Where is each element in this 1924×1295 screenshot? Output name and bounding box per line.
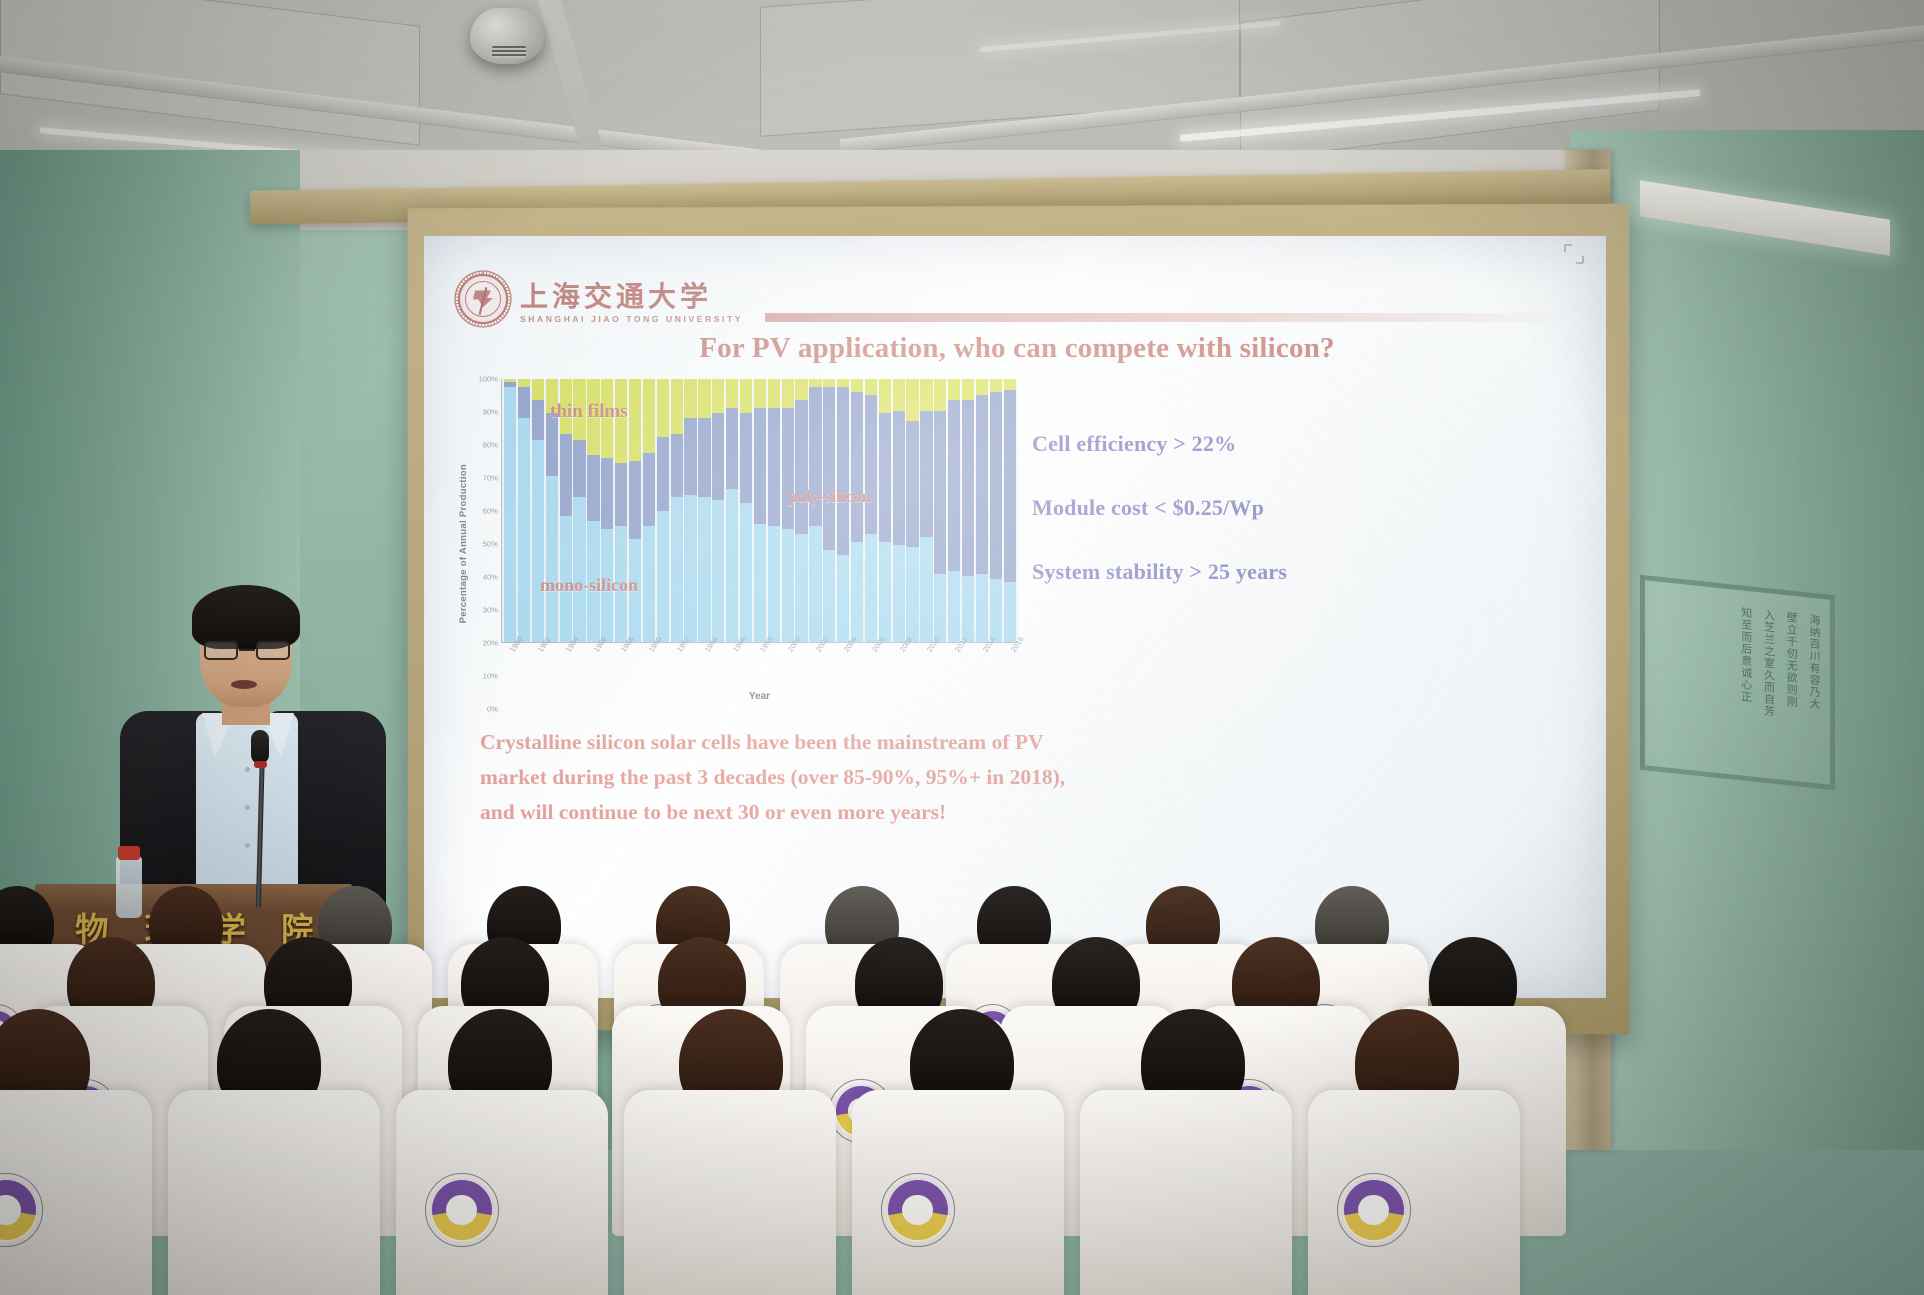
projection-screen: 上海交通大学 SHANGHAI JIAO TONG UNIVERSITY For… bbox=[424, 236, 1606, 998]
microphone-icon bbox=[251, 730, 269, 764]
chart-bar bbox=[754, 379, 766, 642]
chart-bar bbox=[1004, 379, 1016, 642]
chart-bar bbox=[684, 379, 696, 642]
chart-bar-segment bbox=[865, 534, 877, 642]
brand-accent-bar bbox=[765, 313, 1576, 322]
chart-bar-segment bbox=[684, 418, 696, 494]
chart-x-tick-slot bbox=[823, 645, 835, 693]
chair-logo-ring bbox=[425, 1173, 499, 1247]
water-bottle bbox=[116, 856, 142, 918]
chart-x-tick-slot bbox=[906, 645, 918, 693]
chart-bar-segment bbox=[906, 547, 918, 642]
chart-bar-segment bbox=[823, 550, 835, 642]
chart-bar bbox=[532, 379, 544, 642]
chart-x-tick-slot bbox=[851, 645, 863, 693]
chair-cover bbox=[624, 1090, 836, 1295]
fullscreen-corner-icon bbox=[1564, 244, 1584, 264]
chart-x-tick-slot: 1986 bbox=[586, 645, 598, 693]
chart-x-tick-slot: 2006 bbox=[865, 645, 877, 693]
university-brand: 上海交通大学 SHANGHAI JIAO TONG UNIVERSITY bbox=[520, 284, 743, 324]
chart-bar-segment bbox=[671, 497, 683, 642]
chart-bar-segment bbox=[587, 455, 599, 521]
slide-header: 上海交通大学 SHANGHAI JIAO TONG UNIVERSITY bbox=[458, 254, 1576, 324]
chart-bar-segment bbox=[976, 379, 988, 395]
chart-bar bbox=[712, 379, 724, 642]
chart-bar-segment bbox=[837, 387, 849, 555]
chart-bar-segment bbox=[893, 545, 905, 642]
chart-bar-segment bbox=[546, 476, 558, 642]
chart-x-tick-slot bbox=[962, 645, 974, 693]
chart-bar-segment bbox=[754, 524, 766, 642]
chart-bar-segment bbox=[712, 379, 724, 413]
chart-bar bbox=[671, 379, 683, 642]
chart-y-tick: 50% bbox=[483, 540, 498, 549]
chart-bar-segment bbox=[726, 408, 738, 490]
chart-x-tick-slot bbox=[684, 645, 696, 693]
slide-body: Percentage of Annual Production 100%90%8… bbox=[458, 379, 1576, 709]
chart-bar-segment bbox=[782, 529, 794, 642]
calligraphy-column: 知至而后意诚心正 bbox=[1738, 606, 1752, 760]
chair-logo-ring bbox=[881, 1173, 955, 1247]
chart-y-tick: 70% bbox=[483, 474, 498, 483]
chart-bar-segment bbox=[560, 434, 572, 516]
projector-vent-icon bbox=[492, 46, 526, 58]
chart-bar-segment bbox=[768, 526, 780, 642]
presentation-slide: 上海交通大学 SHANGHAI JIAO TONG UNIVERSITY For… bbox=[424, 236, 1606, 998]
chart-bar-segment bbox=[532, 440, 544, 643]
chart-bar-segment bbox=[657, 511, 669, 643]
chart-bar-segment bbox=[1004, 390, 1016, 582]
chart-bar-segment bbox=[726, 379, 738, 408]
bullet-module-cost: Module cost < $0.25/Wp bbox=[1032, 495, 1576, 521]
chart-x-axis-ticks: 1980198219841986198819901992199419961998… bbox=[501, 645, 1018, 693]
chart-x-tick-slot: 2002 bbox=[809, 645, 821, 693]
chart-bar-segment bbox=[795, 379, 807, 400]
chart-annotation-poly-silicon: poly-silicon bbox=[788, 487, 871, 507]
paragraph-line: market during the past 3 decades (over 8… bbox=[480, 760, 1554, 795]
chart-bar-segment bbox=[643, 379, 655, 453]
chart-bar bbox=[851, 379, 863, 642]
chart-x-axis-title: Year bbox=[501, 691, 1018, 702]
chart-bar-segment bbox=[657, 437, 669, 511]
chart-bar bbox=[948, 379, 960, 642]
chart-bar-segment bbox=[865, 395, 877, 534]
chart-bar-segment bbox=[657, 379, 669, 437]
chart-bar-segment bbox=[976, 574, 988, 642]
chart-bar-segment bbox=[712, 413, 724, 500]
chart-bar bbox=[809, 379, 821, 642]
bullet-cell-efficiency: Cell efficiency > 22% bbox=[1032, 431, 1576, 457]
chair-cover bbox=[1308, 1090, 1520, 1295]
chart-bar-segment bbox=[504, 387, 516, 642]
chair-cover bbox=[168, 1090, 380, 1295]
chart-bar-segment bbox=[906, 379, 918, 421]
chart-bar-segment bbox=[726, 489, 738, 642]
chart-bar-segment bbox=[782, 408, 794, 529]
chart-x-tick-slot bbox=[878, 645, 890, 693]
chart-bar bbox=[865, 379, 877, 642]
chart-bar bbox=[726, 379, 738, 642]
chart-bar bbox=[795, 379, 807, 642]
chart-bar-segment bbox=[1004, 379, 1016, 390]
chart-bar bbox=[879, 379, 891, 642]
chart-bar-segment bbox=[643, 453, 655, 527]
chart-bar-segment bbox=[698, 418, 710, 497]
chart-y-tick: 90% bbox=[483, 408, 498, 417]
chart-bar-segment bbox=[837, 555, 849, 642]
chart-bar-segment bbox=[990, 579, 1002, 642]
chart-x-tick-slot: 1988 bbox=[614, 645, 626, 693]
chart-bar-segment bbox=[532, 400, 544, 439]
chart-bar-segment bbox=[768, 408, 780, 526]
chart-bar-segment bbox=[962, 379, 974, 400]
chart-x-tick-slot bbox=[517, 645, 529, 693]
chart-bar bbox=[990, 379, 1002, 642]
chart-bar-segment bbox=[851, 379, 863, 392]
chart-x-tick-slot bbox=[739, 645, 751, 693]
slide-paragraph: Crystalline silicon solar cells have bee… bbox=[458, 725, 1576, 829]
chart-x-tick-slot: 2012 bbox=[948, 645, 960, 693]
chart-bar-segment bbox=[948, 379, 960, 400]
calligraphy-column: 海纳百川有容乃大 bbox=[1806, 613, 1820, 767]
chart-y-tick: 60% bbox=[483, 507, 498, 516]
chart-x-tick-slot: 1992 bbox=[670, 645, 682, 693]
chart-x-tick-slot: 1994 bbox=[698, 645, 710, 693]
chart-x-tick-slot: 2016 bbox=[1004, 645, 1016, 693]
chart-bar-segment bbox=[934, 379, 946, 411]
chart-annotation-thin-films: thin films bbox=[550, 401, 628, 423]
chart-x-tick-slot: 1982 bbox=[531, 645, 543, 693]
chart-x-tick-slot: 2014 bbox=[976, 645, 988, 693]
chart-bar-segment bbox=[879, 379, 891, 413]
chart-bar-segment bbox=[518, 379, 530, 387]
chair-logo-ring bbox=[1337, 1173, 1411, 1247]
chair-cover bbox=[396, 1090, 608, 1295]
chart-x-tick-slot bbox=[573, 645, 585, 693]
chart-bar-segment bbox=[920, 379, 932, 411]
chart-y-tick: 80% bbox=[483, 441, 498, 450]
chart-bar-segment bbox=[643, 526, 655, 642]
chart-bar-segment bbox=[948, 571, 960, 642]
chart-bar-segment bbox=[754, 408, 766, 524]
chart-y-axis-ticks: 100%90%80%70%60%50%40%30%20%10%0% bbox=[471, 379, 501, 709]
chart-bar-segment bbox=[934, 411, 946, 574]
chart-bar bbox=[657, 379, 669, 642]
chart-bar-segment bbox=[518, 418, 530, 642]
chart-bar bbox=[643, 379, 655, 642]
chart-annotation-mono-silicon: mono-silicon bbox=[540, 575, 638, 596]
speaker-hair bbox=[192, 585, 300, 649]
chart-bar-segment bbox=[934, 574, 946, 642]
lecture-hall-photo: 海纳百川有容乃大 壁立千仞无欲则刚 入芝兰之室久而自芳 知至而后意诚心正 上海交… bbox=[0, 0, 1924, 1295]
chart-bar-segment bbox=[809, 379, 821, 387]
chart-bar bbox=[698, 379, 710, 642]
chart-x-tick-slot: 2008 bbox=[892, 645, 904, 693]
chart-bar-segment bbox=[573, 440, 585, 498]
chart-y-tick: 100% bbox=[479, 375, 498, 384]
chart-bar-segment bbox=[893, 379, 905, 411]
chart-bar bbox=[629, 379, 641, 642]
brand-chinese-name: 上海交通大学 bbox=[520, 284, 743, 312]
audience-seating bbox=[0, 940, 1924, 1295]
chart-bar-segment bbox=[990, 379, 1002, 392]
chart-bar bbox=[962, 379, 974, 642]
chart-bar-segment bbox=[712, 500, 724, 642]
chart-bar-segment bbox=[879, 413, 891, 542]
chair-cover bbox=[852, 1090, 1064, 1295]
chart-x-tick-slot: 1998 bbox=[753, 645, 765, 693]
chart-bar-segment bbox=[601, 458, 613, 529]
chart-y-tick: 20% bbox=[483, 639, 498, 648]
chart-bar-segment bbox=[823, 387, 835, 550]
chart-bar bbox=[782, 379, 794, 642]
chart-bar-segment bbox=[573, 497, 585, 642]
chart-bar-segment bbox=[754, 379, 766, 408]
chart-bar-segment bbox=[962, 400, 974, 576]
chart-bar-segment bbox=[962, 576, 974, 642]
chart-bar-segment bbox=[823, 379, 835, 387]
calligraphy-column: 入芝兰之室久而自芳 bbox=[1761, 608, 1775, 762]
chart-y-tick: 30% bbox=[483, 606, 498, 615]
chart-x-tick-slot bbox=[934, 645, 946, 693]
chart-bar-segment bbox=[920, 411, 932, 537]
chart-bar-segment bbox=[865, 379, 877, 395]
chart-x-tick-slot: 2000 bbox=[781, 645, 793, 693]
chart-bar bbox=[504, 379, 516, 642]
chart-bar-segment bbox=[948, 400, 960, 571]
pv-production-chart: Percentage of Annual Production 100%90%8… bbox=[458, 379, 1018, 709]
chart-bar bbox=[906, 379, 918, 642]
chart-y-tick: 10% bbox=[483, 672, 498, 681]
paragraph-line: Crystalline silicon solar cells have bee… bbox=[480, 725, 1554, 760]
chart-y-tick: 40% bbox=[483, 573, 498, 582]
chart-x-tick-slot bbox=[767, 645, 779, 693]
chart-x-tick-slot bbox=[656, 645, 668, 693]
university-seal-icon bbox=[458, 274, 508, 324]
chart-x-tick-slot: 2004 bbox=[837, 645, 849, 693]
slide-bullet-list: Cell efficiency > 22% Module cost < $0.2… bbox=[1032, 379, 1576, 709]
chair-cover bbox=[1080, 1090, 1292, 1295]
chart-bar bbox=[768, 379, 780, 642]
chart-bar bbox=[920, 379, 932, 642]
chart-bar-segment bbox=[795, 400, 807, 534]
chart-bar-segment bbox=[893, 411, 905, 545]
chart-bar-segment bbox=[740, 379, 752, 413]
chart-x-tick-slot: 1984 bbox=[559, 645, 571, 693]
chart-bar-segment bbox=[532, 379, 544, 400]
chart-x-tick-slot: 1980 bbox=[503, 645, 515, 693]
chart-bar bbox=[837, 379, 849, 642]
chart-x-tick-slot bbox=[990, 645, 1002, 693]
brand-english-name: SHANGHAI JIAO TONG UNIVERSITY bbox=[520, 314, 743, 324]
chart-bar-segment bbox=[684, 379, 696, 418]
chart-bar-segment bbox=[518, 387, 530, 419]
chart-bar-segment bbox=[879, 542, 891, 642]
chart-bar-segment bbox=[629, 379, 641, 461]
chart-bar-segment bbox=[698, 379, 710, 418]
chart-x-tick-slot bbox=[712, 645, 724, 693]
chart-bar-segment bbox=[851, 392, 863, 542]
chart-bar-segment bbox=[740, 413, 752, 502]
chart-bar-segment bbox=[837, 379, 849, 387]
chart-bar-segment bbox=[768, 379, 780, 408]
chart-bar-segment bbox=[906, 421, 918, 547]
chart-bar-segment bbox=[990, 392, 1002, 579]
chart-bar bbox=[934, 379, 946, 642]
speaker-glasses-icon bbox=[204, 641, 290, 660]
chart-bar bbox=[823, 379, 835, 642]
chart-bar bbox=[740, 379, 752, 642]
chart-y-tick: 0% bbox=[487, 705, 498, 714]
chart-bar-segment bbox=[851, 542, 863, 642]
chart-bar-segment bbox=[1004, 582, 1016, 642]
chart-bar bbox=[893, 379, 905, 642]
chart-bar-segment bbox=[920, 537, 932, 642]
chart-x-tick-slot bbox=[545, 645, 557, 693]
chart-bar bbox=[518, 379, 530, 642]
chart-bar-segment bbox=[740, 503, 752, 642]
slide-title: For PV application, who can compete with… bbox=[458, 332, 1576, 365]
chart-bar-segment bbox=[684, 495, 696, 642]
bullet-system-stability: System stability > 25 years bbox=[1032, 559, 1576, 585]
calligraphy-frame: 海纳百川有容乃大 壁立千仞无欲则刚 入芝兰之室久而自芳 知至而后意诚心正 bbox=[1640, 575, 1835, 790]
chart-bar-segment bbox=[629, 461, 641, 540]
bottle-cap bbox=[118, 846, 140, 860]
chart-bar-segment bbox=[615, 463, 627, 526]
chart-x-tick-slot: 1990 bbox=[642, 645, 654, 693]
chart-bar-segment bbox=[671, 434, 683, 497]
chart-x-tick-slot: 2010 bbox=[920, 645, 932, 693]
chart-bar-segment bbox=[698, 497, 710, 642]
chart-bar-segment bbox=[671, 379, 683, 434]
chart-x-tick-slot bbox=[600, 645, 612, 693]
chart-x-tick-slot: 1996 bbox=[726, 645, 738, 693]
chart-x-tick-slot bbox=[628, 645, 640, 693]
chart-y-axis-title: Percentage of Annual Production bbox=[458, 464, 469, 623]
chart-bar-segment bbox=[795, 534, 807, 642]
chart-bar-segment bbox=[782, 379, 794, 408]
chart-bar bbox=[976, 379, 988, 642]
chart-bar-segment bbox=[976, 395, 988, 574]
chart-x-tick-slot bbox=[795, 645, 807, 693]
chart-bar-segment bbox=[809, 526, 821, 642]
calligraphy-column: 壁立千仞无欲则刚 bbox=[1784, 611, 1798, 765]
paragraph-line: and will continue to be next 30 or even … bbox=[480, 795, 1554, 830]
